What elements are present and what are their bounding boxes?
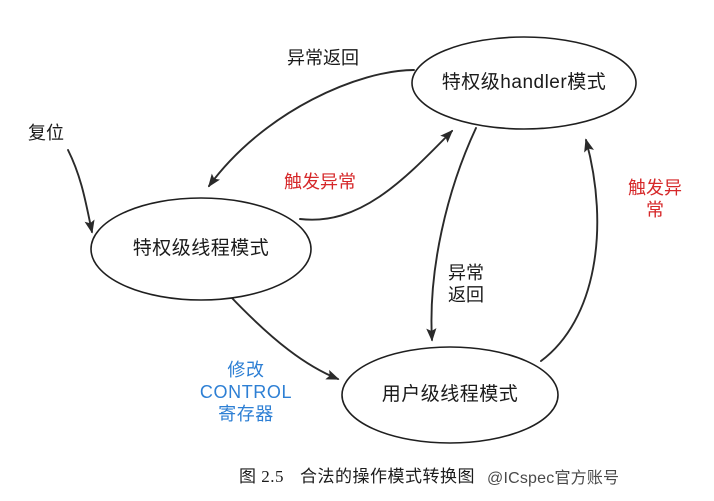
watermark: @ICspec官方账号 xyxy=(487,464,619,488)
edge-label-modify-control-register: 修改 CONTROL 寄存器 xyxy=(200,359,292,425)
edge-label-reset: 复位 xyxy=(28,122,64,144)
figure-number: 图 2.5 xyxy=(239,467,284,486)
node-label-user-thread: 用户级线程模式 xyxy=(382,384,519,406)
figure-caption-text: 合法的操作模式转换图 xyxy=(300,467,475,486)
node-label-handler: 特权级handler模式 xyxy=(442,72,606,94)
node-label-priv-thread: 特权级线程模式 xyxy=(133,238,270,260)
state-diagram xyxy=(0,0,714,501)
edge-handler-to-user-thread xyxy=(431,128,476,340)
figure-canvas: 特权级handler模式 特权级线程模式 用户级线程模式 复位 异常返回 触发异… xyxy=(0,0,714,501)
edge-user-thread-to-handler xyxy=(541,140,597,361)
edge-handler-to-priv-thread xyxy=(209,70,414,186)
edge-label-exception-return-middle: 异常 返回 xyxy=(448,262,484,306)
edge-label-trigger-exception-left: 触发异常 xyxy=(284,171,356,193)
edge-label-exception-return-top: 异常返回 xyxy=(287,47,359,69)
edge-reset xyxy=(68,150,92,232)
edge-label-trigger-exception-right: 触发异常 xyxy=(626,177,685,221)
